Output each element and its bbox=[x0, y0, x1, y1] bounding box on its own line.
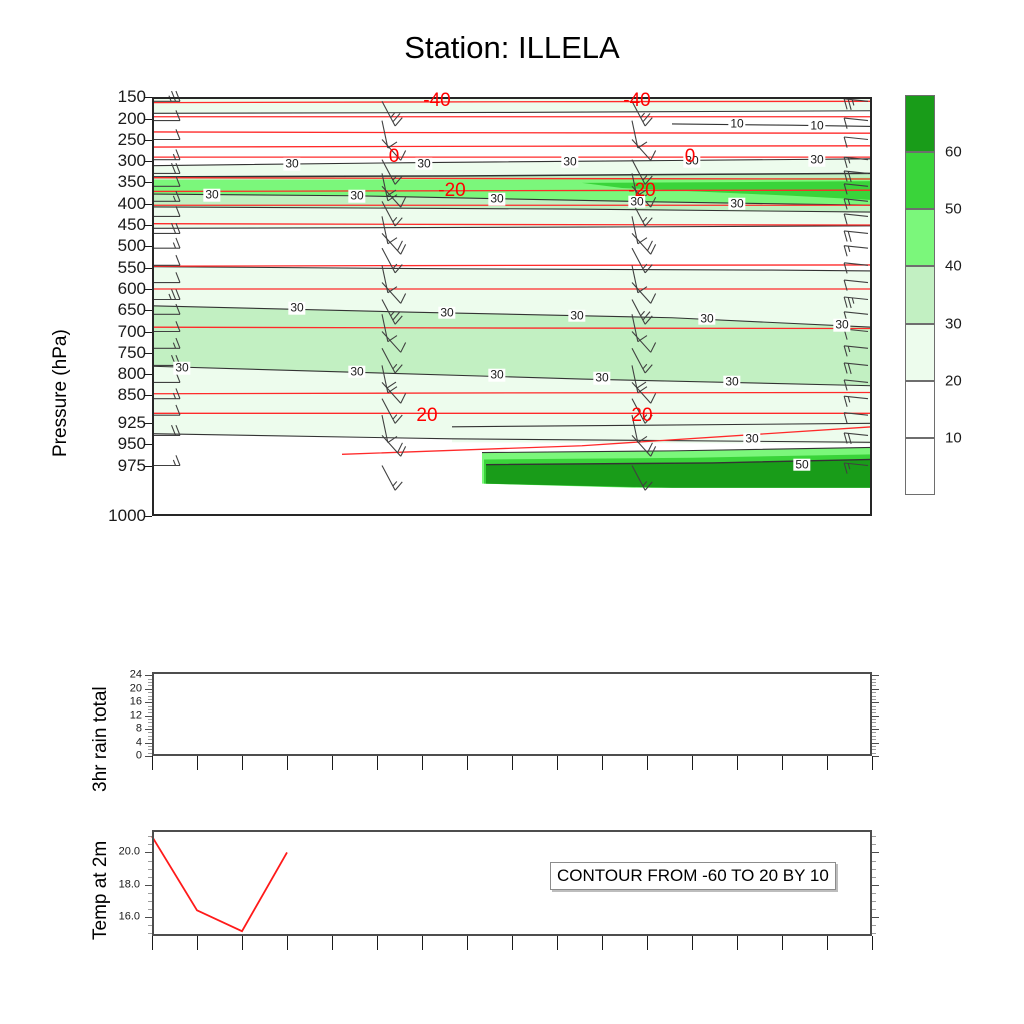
rain-y-minor-tick bbox=[148, 746, 152, 747]
temp-y-minor-tick bbox=[148, 925, 152, 926]
rain-x-tick bbox=[287, 756, 288, 770]
colorbar-tick-label: 50 bbox=[945, 201, 962, 218]
rain-y-minor-tick bbox=[148, 696, 152, 697]
y-tick-mark bbox=[145, 310, 152, 311]
rain-x-tick bbox=[782, 756, 783, 770]
rain-x-tick bbox=[332, 756, 333, 770]
rain-y-minor-tick bbox=[872, 719, 876, 720]
y-axis-tick-label: 800 bbox=[78, 365, 146, 382]
temp-x-tick bbox=[737, 936, 738, 950]
temp-x-tick bbox=[152, 936, 153, 950]
page-title: Station: ILLELA bbox=[0, 30, 1024, 66]
rain-y-minor-tick bbox=[148, 685, 152, 686]
temp-y-minor-tick bbox=[872, 861, 876, 862]
y-axis-tick-label: 925 bbox=[78, 414, 146, 431]
temp-x-tick bbox=[197, 936, 198, 950]
y-axis-title: Pressure (hPa) bbox=[50, 329, 72, 457]
humidity-contour-label: 30 bbox=[438, 306, 455, 319]
rain-y-minor-tick bbox=[872, 722, 876, 723]
rain-y-minor-tick bbox=[148, 729, 152, 730]
temp-x-tick bbox=[782, 936, 783, 950]
temp-y-minor-tick bbox=[148, 852, 152, 853]
rain-y-minor-tick bbox=[148, 753, 152, 754]
humidity-contour-label: 30 bbox=[808, 154, 825, 167]
temp-y-minor-tick bbox=[872, 885, 876, 886]
colorbar-tick-label: 60 bbox=[945, 144, 962, 161]
rain-y-minor-tick bbox=[872, 696, 876, 697]
y-axis-tick-label: 500 bbox=[78, 237, 146, 254]
rain-plot-frame bbox=[152, 672, 872, 756]
y-axis-tick-label: 700 bbox=[78, 323, 146, 340]
y-tick-mark bbox=[145, 140, 152, 141]
rain-y-tick-label: 24 bbox=[102, 670, 142, 681]
rain-y-axis-title: 3hr rain total bbox=[90, 686, 112, 792]
rain-x-tick bbox=[692, 756, 693, 770]
temp-x-tick bbox=[242, 936, 243, 950]
humidity-contour-label: 30 bbox=[283, 158, 300, 171]
humidity-contour-label: 30 bbox=[488, 369, 505, 382]
temp-y-axis-title: Temp at 2m bbox=[90, 841, 112, 940]
rain-y-minor-tick bbox=[148, 732, 152, 733]
rain-y-minor-tick bbox=[872, 739, 876, 740]
rain-y-minor-tick bbox=[148, 679, 152, 680]
humidity-contour-label: 30 bbox=[723, 375, 740, 388]
y-axis-tick-label: 550 bbox=[78, 259, 146, 276]
rain-x-tick bbox=[872, 756, 873, 770]
colorbar-band bbox=[905, 152, 935, 209]
rain-y-minor-tick bbox=[872, 749, 876, 750]
temp-y-minor-tick bbox=[872, 925, 876, 926]
temp-y-minor-tick bbox=[872, 909, 876, 910]
rain-x-tick bbox=[197, 756, 198, 770]
y-tick-mark bbox=[145, 466, 152, 467]
y-tick-mark bbox=[145, 289, 152, 290]
y-axis-tick-label: 450 bbox=[78, 216, 146, 233]
y-axis-tick-label: 150 bbox=[78, 88, 146, 105]
rain-y-minor-tick bbox=[148, 706, 152, 707]
rain-y-minor-tick bbox=[148, 719, 152, 720]
temp-x-tick bbox=[557, 936, 558, 950]
temp-x-tick bbox=[422, 936, 423, 950]
temp-y-minor-tick bbox=[148, 877, 152, 878]
humidity-contour-label: 30 bbox=[568, 309, 585, 322]
rain-x-tick bbox=[647, 756, 648, 770]
y-axis-tick-label: 250 bbox=[78, 131, 146, 148]
y-tick-mark bbox=[145, 423, 152, 424]
rain-total-panel: 04812162024 3hr rain total bbox=[152, 672, 872, 756]
temp-y-minor-tick bbox=[148, 933, 152, 934]
y-tick-mark bbox=[145, 182, 152, 183]
temp-y-minor-tick bbox=[872, 844, 876, 845]
y-tick-mark bbox=[145, 246, 152, 247]
y-tick-mark bbox=[145, 225, 152, 226]
temp-y-minor-tick bbox=[148, 869, 152, 870]
humidity-contour-label: 30 bbox=[288, 302, 305, 315]
temp-2m-panel: 16.018.020.0 Temp at 2m CONTOUR FROM -60… bbox=[152, 830, 872, 936]
temp-x-tick bbox=[602, 936, 603, 950]
rain-x-tick bbox=[602, 756, 603, 770]
temp-x-tick bbox=[647, 936, 648, 950]
y-tick-mark bbox=[145, 353, 152, 354]
temp-y-minor-tick bbox=[872, 893, 876, 894]
rain-y-minor-tick bbox=[148, 692, 152, 693]
humidity-contour-label: 30 bbox=[561, 155, 578, 168]
y-axis-tick-label: 200 bbox=[78, 110, 146, 127]
temp-y-minor-tick bbox=[872, 852, 876, 853]
rain-x-tick bbox=[737, 756, 738, 770]
y-tick-mark bbox=[145, 204, 152, 205]
rain-y-minor-tick bbox=[148, 699, 152, 700]
rain-y-minor-tick bbox=[148, 716, 152, 717]
temp-x-tick bbox=[377, 936, 378, 950]
rain-x-tick bbox=[377, 756, 378, 770]
humidity-contour-label: 30 bbox=[833, 319, 850, 332]
temperature-contour-label: -20 bbox=[626, 181, 657, 201]
y-axis-tick-label: 950 bbox=[78, 435, 146, 452]
temperature-contour-label: 0 bbox=[387, 147, 402, 167]
plot-frame bbox=[152, 97, 872, 516]
colorbar-band bbox=[905, 381, 935, 438]
y-tick-mark bbox=[145, 395, 152, 396]
temp-y-minor-tick bbox=[148, 885, 152, 886]
rain-y-minor-tick bbox=[872, 732, 876, 733]
rain-y-minor-tick bbox=[872, 729, 876, 730]
rain-y-minor-tick bbox=[872, 709, 876, 710]
temp-y-minor-tick bbox=[148, 861, 152, 862]
rain-y-minor-tick bbox=[872, 712, 876, 713]
y-tick-mark bbox=[145, 516, 152, 517]
y-axis-tick-label: 350 bbox=[78, 173, 146, 190]
rain-x-tick bbox=[242, 756, 243, 770]
rain-y-minor-tick bbox=[872, 682, 876, 683]
temp-y-minor-tick bbox=[148, 917, 152, 918]
rain-y-minor-tick bbox=[872, 675, 876, 676]
y-tick-mark bbox=[145, 444, 152, 445]
rain-y-minor-tick bbox=[148, 712, 152, 713]
colorbar-tick-label: 30 bbox=[945, 315, 962, 332]
pressure-cross-section-plot: 1502002503003504004505005506006507007508… bbox=[152, 97, 872, 516]
rain-x-tick bbox=[827, 756, 828, 770]
colorbar-tick-label: 20 bbox=[945, 372, 962, 389]
temp-x-tick bbox=[512, 936, 513, 950]
rain-y-minor-tick bbox=[872, 702, 876, 703]
temp-y-minor-tick bbox=[148, 909, 152, 910]
temperature-contour-label: 20 bbox=[414, 406, 439, 426]
y-axis-tick-label: 750 bbox=[78, 344, 146, 361]
rain-y-minor-tick bbox=[148, 702, 152, 703]
contour-range-annotation: CONTOUR FROM -60 TO 20 BY 10 bbox=[550, 862, 836, 890]
humidity-contour-label: 30 bbox=[348, 190, 365, 203]
temp-x-tick bbox=[692, 936, 693, 950]
rain-y-minor-tick bbox=[148, 739, 152, 740]
y-tick-mark bbox=[145, 97, 152, 98]
y-axis-tick-label: 850 bbox=[78, 386, 146, 403]
temp-y-minor-tick bbox=[872, 933, 876, 934]
rain-x-tick bbox=[512, 756, 513, 770]
colorbar-band bbox=[905, 266, 935, 323]
y-tick-mark bbox=[145, 374, 152, 375]
rain-y-minor-tick bbox=[872, 726, 876, 727]
temp-y-minor-tick bbox=[148, 901, 152, 902]
y-tick-mark bbox=[145, 119, 152, 120]
temperature-contour-label: 20 bbox=[629, 406, 654, 426]
rain-y-minor-tick bbox=[872, 716, 876, 717]
temp-y-minor-tick bbox=[872, 836, 876, 837]
rain-y-minor-tick bbox=[872, 679, 876, 680]
humidity-contour-label: 30 bbox=[743, 433, 760, 446]
rain-y-minor-tick bbox=[872, 692, 876, 693]
humidity-contour-label: 10 bbox=[808, 119, 825, 132]
temp-y-minor-tick bbox=[148, 836, 152, 837]
temp-x-tick bbox=[827, 936, 828, 950]
y-axis-tick-label: 650 bbox=[78, 301, 146, 318]
rain-x-tick bbox=[557, 756, 558, 770]
humidity-contour-label: 30 bbox=[593, 372, 610, 385]
colorbar-band bbox=[905, 438, 935, 495]
temp-y-minor-tick bbox=[148, 893, 152, 894]
colorbar: 605040302010 bbox=[905, 95, 935, 495]
rain-y-minor-tick bbox=[148, 743, 152, 744]
rain-y-minor-tick bbox=[872, 753, 876, 754]
rain-y-minor-tick bbox=[872, 746, 876, 747]
rain-y-minor-tick bbox=[148, 749, 152, 750]
humidity-contour-label: 30 bbox=[488, 193, 505, 206]
humidity-contour-label: 10 bbox=[728, 118, 745, 131]
humidity-contour-label: 30 bbox=[348, 366, 365, 379]
temp-y-minor-tick bbox=[872, 877, 876, 878]
rain-y-minor-tick bbox=[148, 726, 152, 727]
temp-y-minor-tick bbox=[872, 869, 876, 870]
temp-x-tick bbox=[872, 936, 873, 950]
rain-y-minor-tick bbox=[148, 736, 152, 737]
colorbar-tick-label: 10 bbox=[945, 429, 962, 446]
colorbar-tick-label: 40 bbox=[945, 258, 962, 275]
rain-y-minor-tick bbox=[872, 736, 876, 737]
humidity-contour-label: 50 bbox=[793, 458, 810, 471]
y-axis-tick-label: 600 bbox=[78, 280, 146, 297]
temperature-contour-label: -40 bbox=[621, 91, 652, 111]
rain-x-tick bbox=[152, 756, 153, 770]
y-axis-tick-label: 400 bbox=[78, 195, 146, 212]
rain-y-minor-tick bbox=[148, 682, 152, 683]
temp-x-tick bbox=[467, 936, 468, 950]
rain-y-minor-tick bbox=[148, 709, 152, 710]
temp-y-minor-tick bbox=[872, 901, 876, 902]
humidity-contour-label: 30 bbox=[203, 189, 220, 202]
y-tick-mark bbox=[145, 161, 152, 162]
rain-y-minor-tick bbox=[872, 706, 876, 707]
temperature-contour-label: -20 bbox=[436, 181, 467, 201]
temp-x-tick bbox=[287, 936, 288, 950]
temperature-contour-label: -40 bbox=[421, 91, 452, 111]
y-axis-tick-label: 300 bbox=[78, 152, 146, 169]
rain-y-minor-tick bbox=[148, 689, 152, 690]
rain-y-minor-tick bbox=[148, 722, 152, 723]
humidity-contour-label: 30 bbox=[728, 197, 745, 210]
humidity-contour-label: 30 bbox=[415, 157, 432, 170]
colorbar-band bbox=[905, 95, 935, 152]
y-axis-tick-label: 975 bbox=[78, 457, 146, 474]
temperature-contour-label: 0 bbox=[683, 147, 698, 167]
rain-x-tick bbox=[422, 756, 423, 770]
rain-y-minor-tick bbox=[872, 699, 876, 700]
humidity-contour-label: 30 bbox=[698, 312, 715, 325]
rain-y-minor-tick bbox=[872, 685, 876, 686]
rain-y-minor-tick bbox=[872, 689, 876, 690]
y-tick-mark bbox=[145, 268, 152, 269]
y-axis-tick-label: 1000 bbox=[78, 507, 146, 524]
temp-y-minor-tick bbox=[148, 844, 152, 845]
humidity-contour-label: 30 bbox=[173, 362, 190, 375]
y-tick-mark bbox=[145, 332, 152, 333]
rain-y-minor-tick bbox=[148, 675, 152, 676]
rain-x-tick bbox=[467, 756, 468, 770]
colorbar-band bbox=[905, 324, 935, 381]
colorbar-band bbox=[905, 209, 935, 266]
rain-y-minor-tick bbox=[872, 743, 876, 744]
temp-x-tick bbox=[332, 936, 333, 950]
temp-y-minor-tick bbox=[872, 917, 876, 918]
